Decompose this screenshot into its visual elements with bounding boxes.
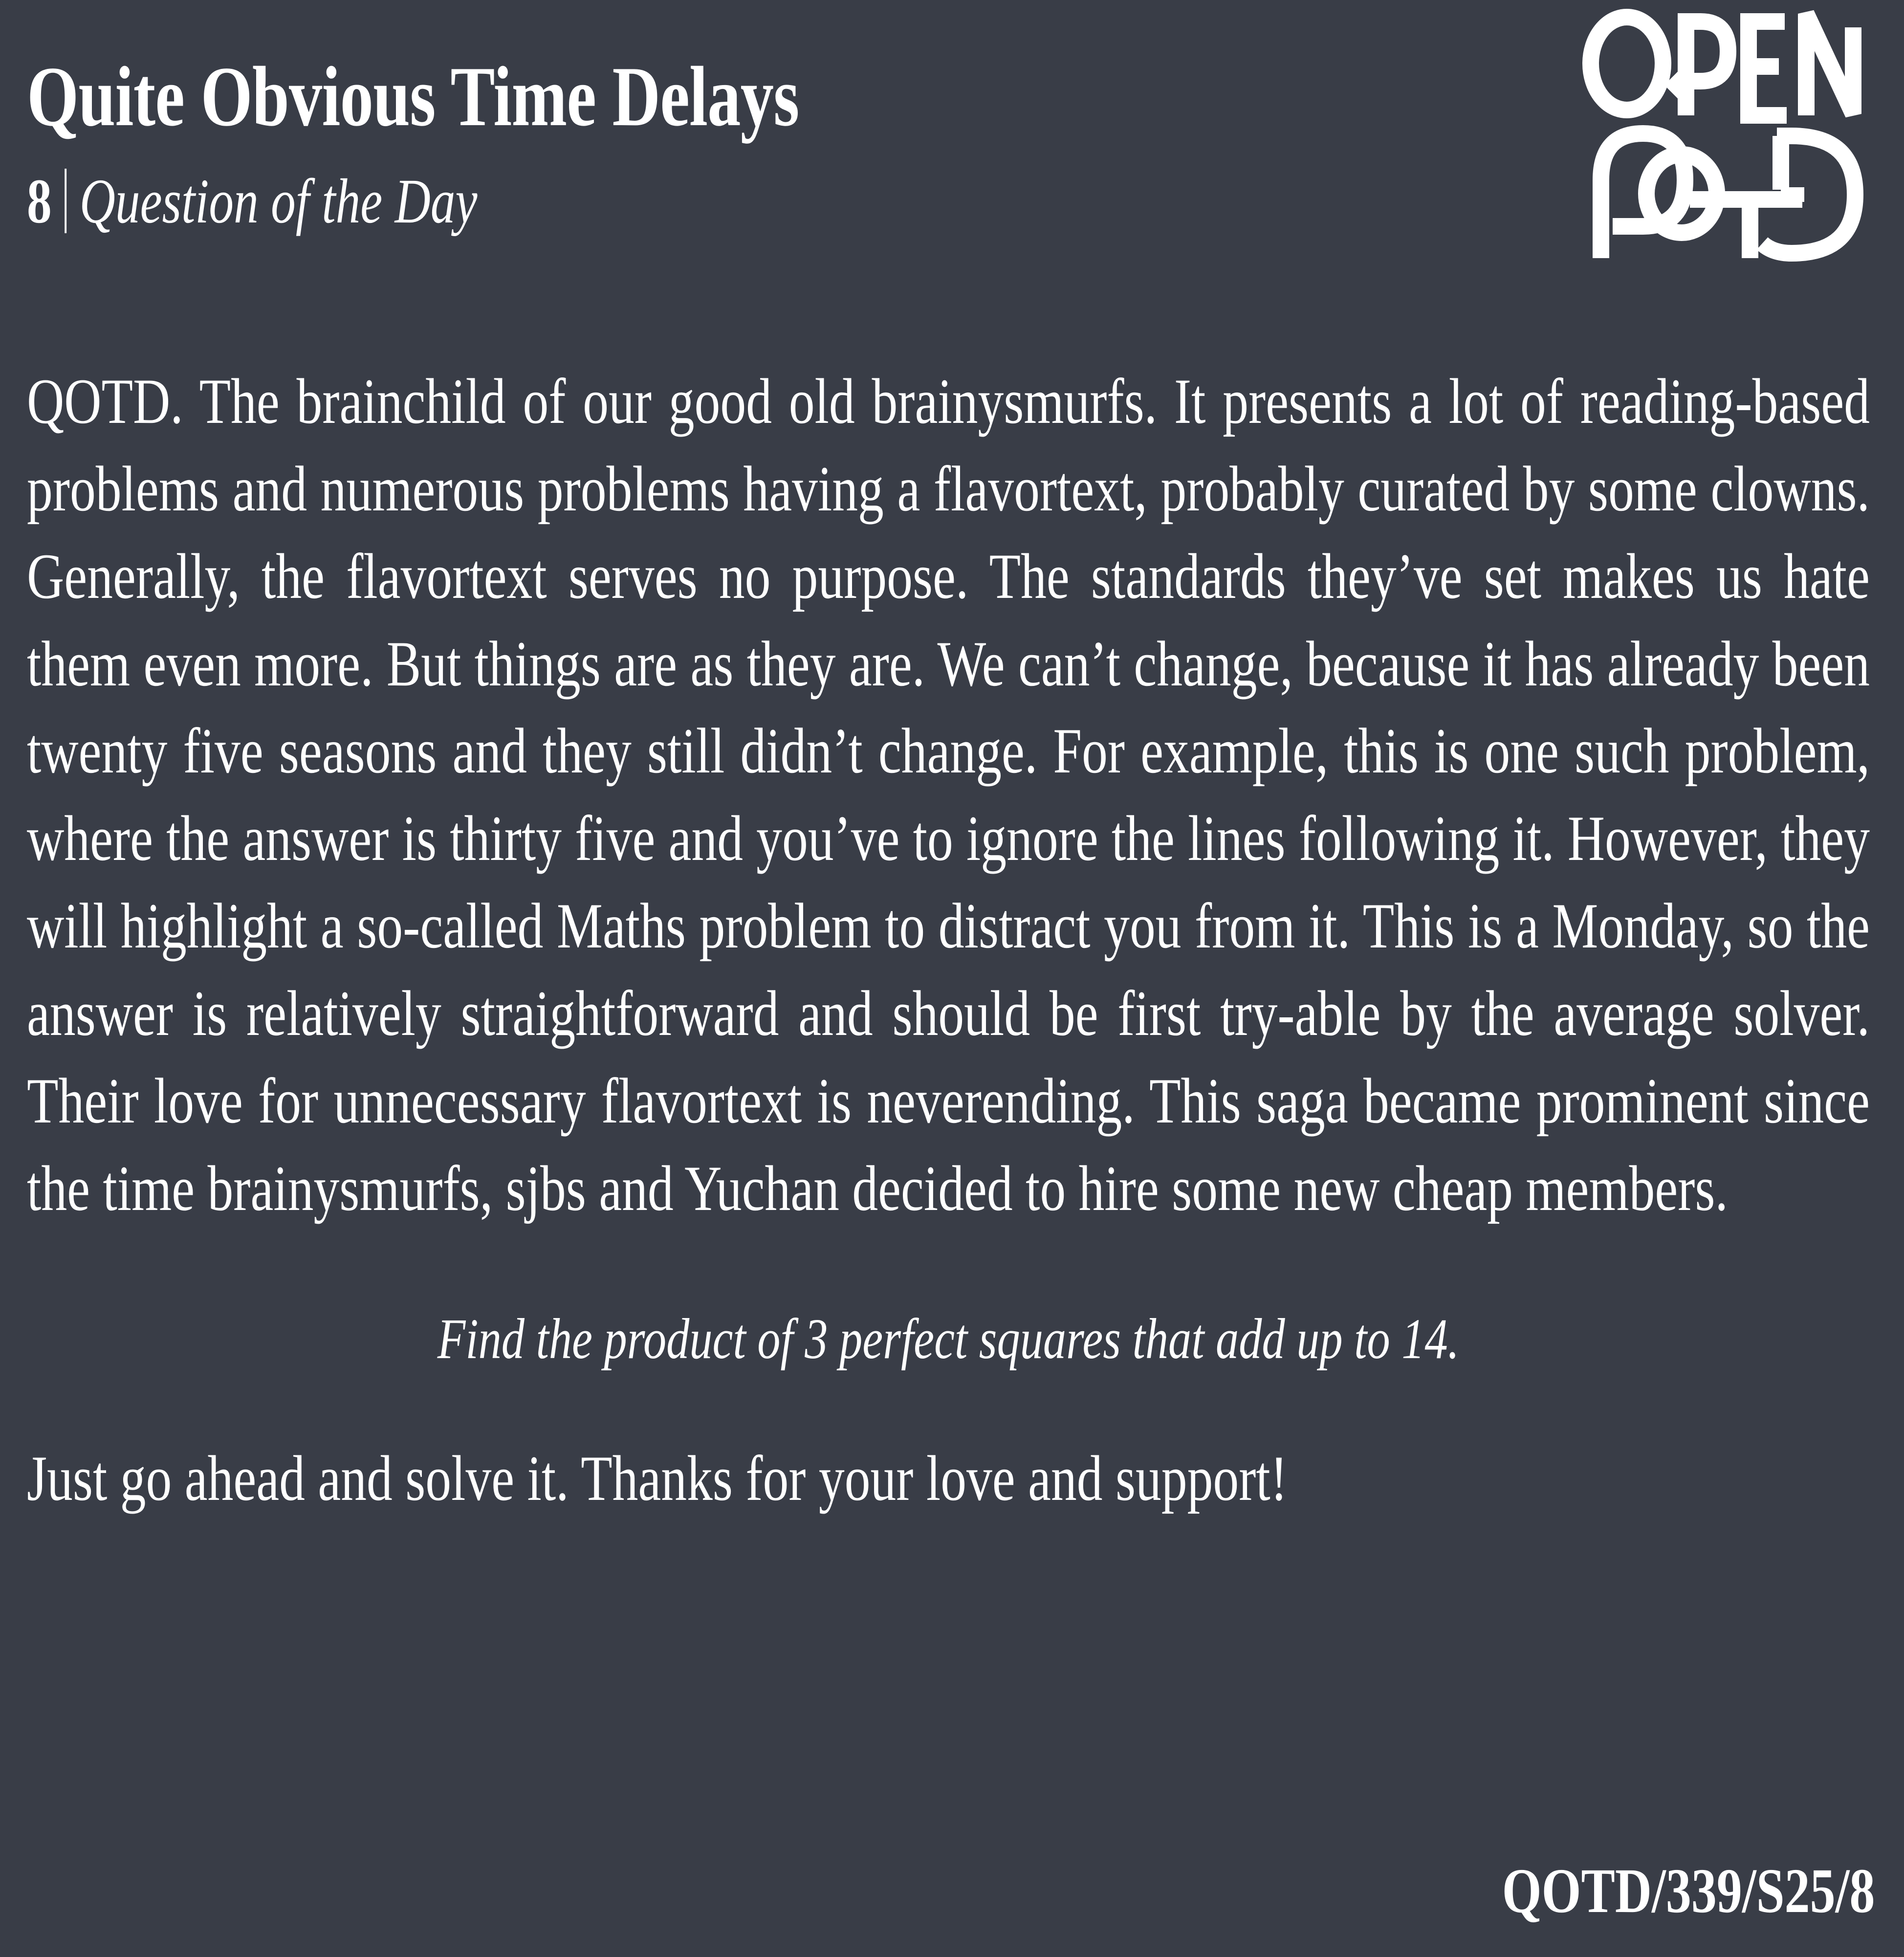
subtitle-label: Question of the Day (80, 170, 478, 233)
question-statement: Find the product of 3 perfect squares th… (211, 1306, 1685, 1372)
logo-letter-p (1686, 22, 1728, 115)
logo-letter-e (1749, 22, 1787, 115)
card-footer: QOTD/339/S25/8 (1409, 1854, 1875, 1928)
subtitle-row: 8 Question of the Day (27, 158, 1133, 233)
page-title: Quite Obvious Time Delays (27, 54, 1133, 139)
closing-statement: Just go ahead and solve it. Thanks for y… (27, 1441, 1501, 1516)
card-body: QOTD. The brainchild of our good old bra… (27, 293, 1870, 1516)
title-block: Quite Obvious Time Delays 8 Question of … (27, 54, 1444, 233)
open-qotd-logo (1581, 4, 1875, 270)
issue-number: 8 (27, 170, 52, 233)
vertical-divider (65, 169, 66, 233)
reference-code: QOTD/339/S25/8 (1502, 1854, 1875, 1928)
logo-letter-n (1806, 14, 1853, 115)
flavortext-paragraph: QOTD. The brainchild of our good old bra… (27, 358, 1870, 1232)
card-header: Quite Obvious Time Delays 8 Question of … (27, 0, 1875, 274)
logo-artwork (1581, 4, 1875, 270)
qotd-card: Quite Obvious Time Delays 8 Question of … (0, 0, 1904, 1957)
logo-letter-o (1591, 17, 1663, 110)
